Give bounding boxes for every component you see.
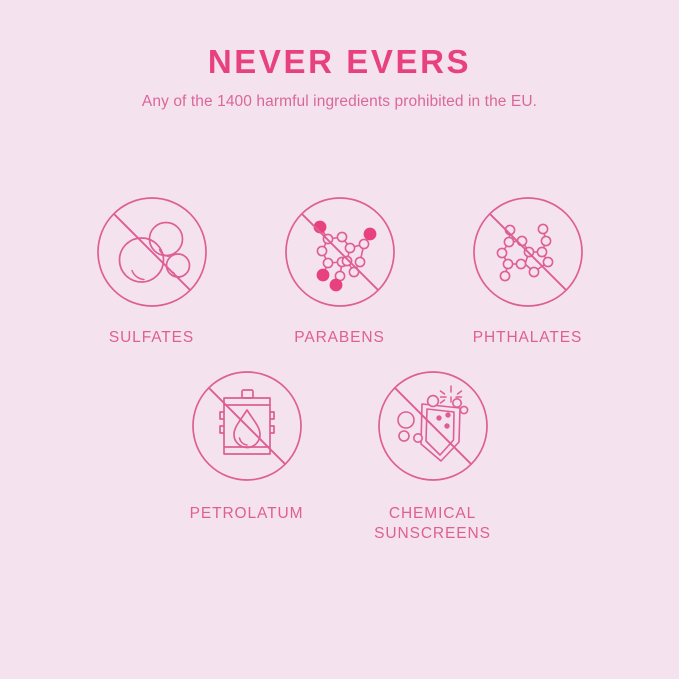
ingredient-item-petrolatum: PETROLATUM <box>191 370 303 544</box>
ingredient-label: PETROLATUM <box>190 504 304 524</box>
ingredient-label: PARABENS <box>294 328 384 348</box>
ingredient-label: CHEMICAL SUNSCREENS <box>374 504 491 544</box>
no-chemical-sunscreens-shield-icon <box>377 370 489 482</box>
ingredient-label: PHTHALATES <box>473 328 583 348</box>
ingredient-row: SULFATES <box>0 196 679 348</box>
ingredient-item-phthalates: PHTHALATES <box>472 196 584 348</box>
ingredient-item-sulfates: SULFATES <box>96 196 208 348</box>
no-phthalates-molecule-icon <box>472 196 584 308</box>
no-parabens-molecule-icon <box>284 196 396 308</box>
never-evers-infographic: NEVER EVERS Any of the 1400 harmful ingr… <box>0 0 679 679</box>
no-petrolatum-barrel-icon <box>191 370 303 482</box>
ingredient-grid: SULFATES <box>0 196 679 543</box>
ingredient-row: PETROLATUM <box>0 370 679 544</box>
no-sulfates-bubbles-icon <box>96 196 208 308</box>
page-title: NEVER EVERS <box>0 44 679 80</box>
page-subtitle: Any of the 1400 harmful ingredients proh… <box>0 93 679 112</box>
header: NEVER EVERS Any of the 1400 harmful ingr… <box>0 44 679 112</box>
ingredient-item-parabens: PARABENS <box>284 196 396 348</box>
ingredient-item-chemical-sunscreens: CHEMICAL SUNSCREENS <box>377 370 489 544</box>
ingredient-label: SULFATES <box>109 328 194 348</box>
